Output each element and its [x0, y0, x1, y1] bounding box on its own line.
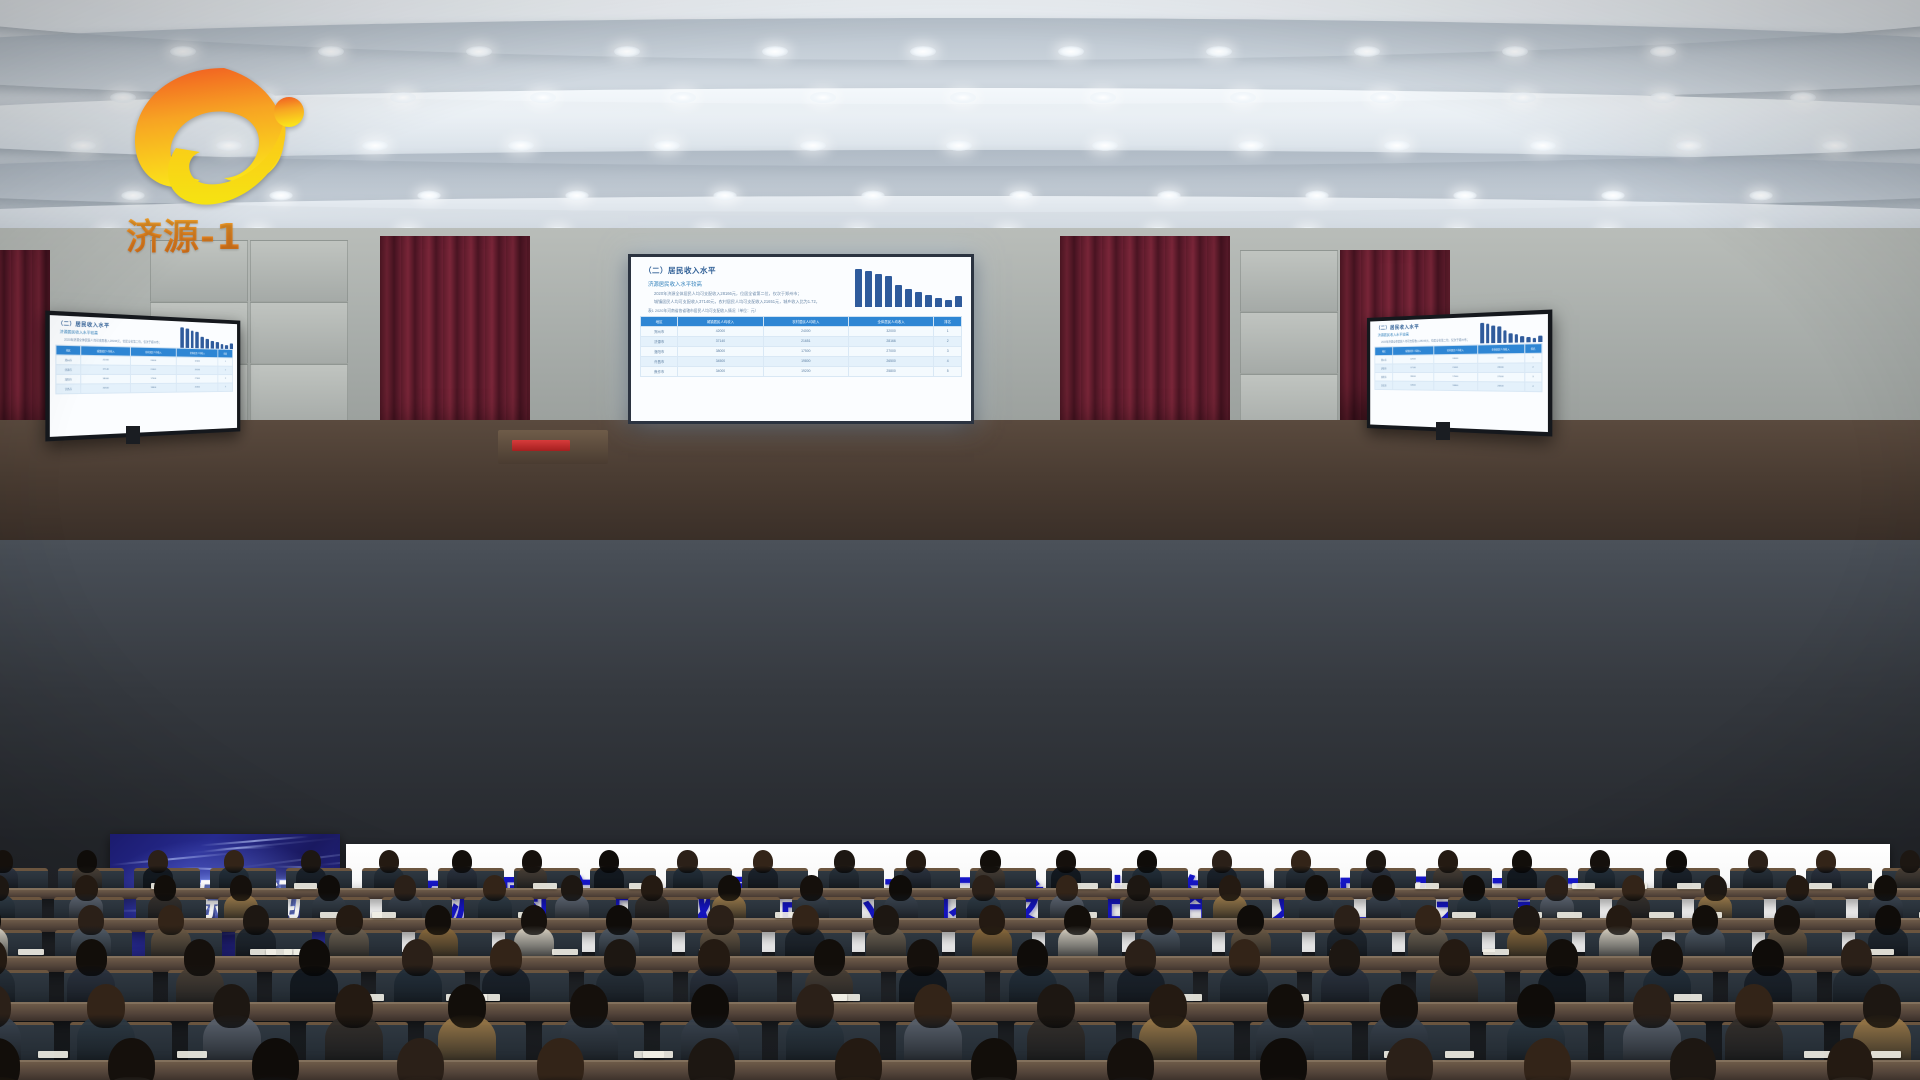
chart-bar	[865, 271, 872, 307]
audience-member-head	[1875, 905, 1901, 935]
downlight	[1384, 140, 1410, 151]
downlight	[1305, 191, 1328, 201]
monitor-data-table-right: 地区城镇居民人均收入农村居民人均收入全体居民人均收入排名郑州市420002400…	[1374, 343, 1542, 392]
audience-member-head	[0, 850, 13, 873]
chart-bar	[211, 341, 214, 349]
audience-member-head	[570, 984, 608, 1028]
downlight	[1092, 140, 1118, 151]
audience-member-head	[1237, 905, 1263, 935]
table-row: 洛阳市3800017500270003	[641, 346, 962, 356]
table-cell: 19800	[1434, 382, 1478, 391]
audience-member-head	[691, 984, 729, 1028]
table-header-cell: 排名	[1524, 344, 1542, 354]
document-paper	[1677, 883, 1701, 889]
table-cell: 4	[1524, 382, 1542, 392]
chart-bar	[1527, 337, 1531, 342]
downlight	[417, 191, 440, 201]
table-cell: 28166	[176, 366, 218, 375]
table-cell: 19200	[763, 366, 848, 376]
audience-member-head	[599, 850, 619, 873]
table-cell: 洛阳市	[56, 375, 81, 385]
table-cell: 21651	[763, 336, 848, 346]
stage-curtain-right	[1060, 236, 1230, 446]
chart-bar	[230, 343, 233, 349]
table-cell: 4	[934, 356, 962, 366]
table-header-cell: 全体居民人均收入	[848, 316, 933, 326]
downlight	[670, 92, 696, 103]
chart-bar	[220, 344, 223, 349]
audience-member-head	[1874, 875, 1897, 901]
document-paper	[266, 949, 292, 955]
downlight	[1058, 46, 1084, 57]
audience-member-head	[1366, 850, 1386, 873]
document-paper	[533, 883, 557, 889]
audience-member-head	[1545, 875, 1568, 901]
table-cell: 3	[218, 375, 232, 383]
chart-bar	[895, 285, 902, 307]
chart-bar	[191, 330, 194, 348]
table-cell: 1	[934, 326, 962, 336]
table-row: 许昌市3450019800265004	[1375, 381, 1542, 392]
table-cell: 42000	[1393, 355, 1434, 364]
table-cell: 19800	[763, 356, 848, 366]
table-cell: 42000	[678, 326, 763, 336]
audience-member-head	[230, 875, 253, 901]
chart-bar	[1533, 338, 1537, 342]
downlight	[508, 140, 534, 151]
audience-member-head	[213, 984, 251, 1028]
audience-member-head	[1415, 905, 1441, 935]
projection-screen: （二）居民收入水平 济源居民收入水平较高 2020年济源全体居民人均可支配收入2…	[628, 254, 974, 424]
stage-curtain-left	[380, 236, 530, 446]
audience-member-head	[604, 939, 636, 975]
channel-name-label: 济源-1	[126, 208, 326, 260]
downlight	[1370, 92, 1396, 103]
downlight	[1009, 191, 1032, 201]
downlight	[910, 46, 936, 57]
table-cell: 许昌市	[1375, 381, 1393, 390]
table-header-row: 地区城镇居民人均收入农村居民人均收入全体居民人均收入排名	[641, 316, 962, 326]
audience-member-head	[1735, 984, 1773, 1028]
downlight	[1822, 140, 1848, 151]
table-cell: 2	[218, 366, 232, 374]
audience-member-head	[718, 875, 741, 901]
document-paper	[552, 949, 578, 955]
audience-member-head	[1774, 905, 1800, 935]
slide-paragraph: 城镇居民人均可支配收入37140元，农村居民人均可支配收入21651元，城乡收入…	[654, 299, 854, 305]
downlight	[530, 92, 556, 103]
presentation-slide: （二）居民收入水平 济源居民收入水平较高 2020年济源全体居民人均可支配收入2…	[631, 257, 971, 421]
document-paper	[18, 949, 44, 955]
chart-bar	[925, 295, 932, 307]
audience-member-head	[834, 850, 854, 873]
audience-member-head	[1463, 875, 1486, 901]
downlight	[800, 140, 826, 151]
audience-member-head	[483, 875, 506, 901]
document-paper	[1809, 883, 1833, 889]
table-header-cell: 农村居民人均收入	[763, 316, 848, 326]
downlight	[466, 46, 492, 57]
document-paper	[1674, 994, 1702, 1001]
table-cell: 许昌市	[641, 356, 678, 366]
document-paper	[1452, 912, 1477, 918]
audience-member-head	[1064, 905, 1090, 935]
document-paper	[1415, 883, 1439, 889]
downlight	[654, 140, 680, 151]
table-cell: 28166	[1478, 363, 1525, 373]
table-cell: 许昌市	[56, 384, 81, 394]
downlight	[1206, 46, 1232, 57]
audience-member-head	[1212, 850, 1232, 873]
table-row: 济源市3714021651281662	[641, 336, 962, 346]
table-row: 郑州市4200024000320001	[641, 326, 962, 336]
table-cell: 26500	[1478, 382, 1525, 392]
stage-curtain-far-left	[0, 250, 50, 440]
audience-member-head	[796, 984, 834, 1028]
audience-member-head	[1666, 850, 1686, 873]
audience-member-head	[77, 850, 97, 873]
table-cell: 5	[934, 366, 962, 376]
table-cell: 济源市	[641, 336, 678, 346]
audience-member-head	[1816, 850, 1836, 873]
audience-member-head	[1692, 905, 1718, 935]
audience-member-head	[707, 905, 733, 935]
document-paper	[177, 1051, 207, 1058]
downlight	[861, 191, 884, 201]
audience-member-head	[972, 875, 995, 901]
table-cell: 21651	[130, 366, 176, 375]
audience-member-head	[1900, 850, 1920, 873]
audience-member-head	[402, 939, 434, 975]
table-cell: 17500	[1434, 373, 1478, 382]
audience-member-head	[889, 875, 912, 901]
wall-panel	[250, 364, 348, 426]
chart-bar	[915, 292, 922, 307]
monitor-bar-chart-left	[180, 326, 233, 349]
chart-bar	[206, 339, 209, 349]
downlight	[1530, 140, 1556, 151]
audience-member-head	[425, 905, 451, 935]
audience-member-head	[1524, 1038, 1571, 1080]
wall-panel	[1240, 312, 1338, 374]
audience-member-head	[1147, 905, 1173, 935]
table-header-cell: 城镇居民人均收入	[678, 316, 763, 326]
slide-paragraph: 2020年济源全体居民人均可支配收入28166元，位居全省第二位，仅次于郑州市；	[654, 291, 854, 297]
audience-member-head	[677, 850, 697, 873]
document-paper	[1572, 883, 1596, 889]
table-cell: 38000	[81, 375, 131, 385]
audience-member-head	[397, 1038, 444, 1080]
slide-data-table: 地区城镇居民人均收入农村居民人均收入全体居民人均收入排名郑州市420002400…	[640, 316, 962, 377]
downlight	[946, 140, 972, 151]
audience-member-head	[814, 939, 846, 975]
table-cell: 32000	[848, 326, 933, 336]
audience-member-head	[336, 905, 362, 935]
table-cell: 38000	[678, 346, 763, 356]
audience-member-head	[1670, 1038, 1717, 1080]
table-cell: 34500	[678, 356, 763, 366]
table-cell: 32000	[1478, 354, 1525, 364]
audience-member-head	[75, 875, 98, 901]
table-cell: 34000	[678, 366, 763, 376]
audience-member-head	[148, 850, 168, 873]
audience-member-head	[971, 1038, 1018, 1080]
monitor-bar-chart-right	[1480, 320, 1542, 344]
audience-member-head	[1517, 984, 1555, 1028]
audience-member-head	[448, 984, 486, 1028]
light-streak	[111, 852, 236, 866]
audience-member-head	[1380, 984, 1418, 1028]
audience-member-head	[154, 875, 177, 901]
audience-member-head	[1229, 939, 1261, 975]
document-paper	[1557, 912, 1582, 918]
monitor-slide-right: （二）居民收入水平 济源居民收入水平较高 2020年济源全体居民人均可支配收入2…	[1370, 314, 1548, 432]
chart-bar	[1515, 334, 1519, 342]
audience-member-head	[1329, 939, 1361, 975]
chart-bar	[1509, 333, 1513, 343]
table-cell: 郑州市	[1375, 356, 1393, 365]
audience-member-head	[641, 875, 664, 901]
table-cell: 25800	[848, 366, 933, 376]
chart-bar	[1491, 325, 1495, 343]
audience-member-head	[753, 850, 773, 873]
table-row: 济源市3714021651281662	[1375, 363, 1542, 373]
audience-member-head	[394, 875, 417, 901]
wall-panel	[1240, 250, 1338, 312]
audience-member-head	[698, 939, 730, 975]
audience-member-head	[301, 850, 321, 873]
audience-member-head	[1622, 875, 1645, 901]
table-cell: 17500	[763, 346, 848, 356]
downlight	[1510, 92, 1536, 103]
audience-member-head	[1841, 939, 1873, 975]
table-cell: 1	[1524, 353, 1542, 363]
chart-bar	[955, 296, 962, 307]
audience-member-head	[1752, 939, 1784, 975]
table-cell: 24000	[1434, 354, 1478, 363]
table-cell: 32000	[176, 357, 218, 366]
downlight	[1230, 92, 1256, 103]
audience-member-head	[1512, 850, 1532, 873]
table-row: 焦作市3400019200258005	[641, 366, 962, 376]
table-cell: 24000	[763, 326, 848, 336]
table-cell: 38000	[1393, 373, 1434, 382]
slide-bar-chart	[855, 267, 963, 307]
audience-member-head	[1291, 850, 1311, 873]
audience-member-head	[1149, 984, 1187, 1028]
audience-member-head	[606, 905, 632, 935]
chart-bar	[905, 289, 912, 307]
chart-bar	[885, 276, 892, 307]
table-cell: 37140	[1393, 364, 1434, 373]
audience-member-head	[1633, 984, 1671, 1028]
downlight	[1676, 140, 1702, 151]
chart-bar	[1480, 323, 1484, 344]
downlight	[1354, 46, 1380, 57]
audience-member-head	[800, 875, 823, 901]
audience-member-head	[835, 1038, 882, 1080]
audience-member-head	[1651, 939, 1683, 975]
audience-member-head	[537, 1038, 584, 1080]
document-paper	[1483, 949, 1509, 955]
chart-bar	[180, 327, 183, 348]
audience-member-head	[1137, 850, 1157, 873]
downlight	[1650, 92, 1676, 103]
chart-bar	[935, 298, 942, 307]
audience-member-head	[299, 939, 331, 975]
channel-bug: 济源-1	[104, 56, 334, 256]
table-row: 许昌市3450019800265004	[56, 383, 233, 394]
table-header-cell: 排名	[934, 316, 962, 326]
document-paper	[1649, 912, 1674, 918]
audience-member-head	[1439, 939, 1471, 975]
audience-member-head	[1786, 875, 1809, 901]
table-row: 济源市3714021651281662	[56, 365, 233, 375]
audience-member-head	[252, 1038, 299, 1080]
audience-member-head	[490, 939, 522, 975]
document-paper	[1871, 1051, 1901, 1058]
table-cell: 42000	[81, 356, 131, 366]
table-cell: 焦作市	[641, 366, 678, 376]
audience-member-head	[914, 984, 952, 1028]
chart-bar	[855, 269, 862, 307]
table-cell: 21651	[1434, 364, 1478, 373]
audience-member-head	[1125, 939, 1157, 975]
table-cell: 洛阳市	[641, 346, 678, 356]
slide-table-note: 表1 2020年河南省各省辖市居民人均可支配收入情况（单位：元）	[648, 309, 962, 314]
audience-member-head	[1546, 939, 1578, 975]
audience-member-head	[184, 939, 216, 975]
table-cell: 26500	[848, 356, 933, 366]
downlight	[1650, 46, 1676, 57]
audience-member-head	[1267, 984, 1305, 1028]
chart-bar	[875, 274, 882, 307]
broadcast-frame: （二）居民收入水平 济源居民收入水平较高 2020年济源全体居民人均可支配收入2…	[0, 0, 1920, 1080]
chart-bar	[185, 329, 188, 348]
audience-member-head	[522, 850, 542, 873]
downlight	[1090, 92, 1116, 103]
audience-member-head	[1863, 984, 1901, 1028]
audience-member-head	[1372, 875, 1395, 901]
audience-member-head	[1127, 875, 1150, 901]
audience-member-head	[224, 850, 244, 873]
table-cell: 济源市	[56, 365, 81, 375]
table-cell: 3	[934, 346, 962, 356]
table-cell: 19800	[130, 384, 176, 393]
audience-member-head	[1056, 850, 1076, 873]
document-paper	[38, 1051, 68, 1058]
document-paper	[643, 1051, 673, 1058]
audience-member-head	[1606, 905, 1632, 935]
downlight	[810, 92, 836, 103]
table-cell: 郑州市	[641, 326, 678, 336]
audience-member-head	[521, 905, 547, 935]
audience-member-head	[906, 850, 926, 873]
downlight	[1238, 140, 1264, 151]
downlight	[1453, 191, 1476, 201]
table-cell: 26500	[176, 383, 218, 392]
table-cell: 37140	[678, 336, 763, 346]
chart-bar	[1521, 336, 1525, 343]
downlight	[1790, 92, 1816, 103]
table-cell: 34500	[1393, 381, 1434, 390]
table-cell: 3	[1524, 373, 1542, 383]
table-cell: 1	[218, 358, 232, 367]
chart-bar	[945, 300, 952, 307]
table-cell: 济源市	[1375, 364, 1393, 373]
audience-member-head	[980, 850, 1000, 873]
audience-member-head	[87, 984, 125, 1028]
downlight	[565, 191, 588, 201]
chart-bar	[1539, 336, 1543, 342]
table-header-cell: 排名	[218, 349, 232, 358]
table-cell: 2	[1524, 363, 1542, 373]
monitor-data-table-left: 地区城镇居民人均收入农村居民人均收入全体居民人均收入排名郑州市420002400…	[55, 345, 233, 395]
audience-member-head	[1219, 875, 1242, 901]
audience-member-head	[979, 905, 1005, 935]
audience-member-head	[76, 939, 108, 975]
table-cell: 27000	[1478, 373, 1525, 382]
audience-member-head	[1704, 875, 1727, 901]
audience-member-head	[158, 905, 184, 935]
table-cell: 37140	[81, 365, 131, 375]
table-cell: 郑州市	[56, 355, 81, 365]
document-paper	[294, 883, 318, 889]
table-cell: 4	[218, 383, 232, 392]
audience-member-head	[1513, 905, 1539, 935]
audience-member-head	[1438, 850, 1458, 873]
document-paper	[372, 912, 397, 918]
table-cell: 34500	[81, 384, 131, 394]
table-cell: 2	[934, 336, 962, 346]
table-cell: 28166	[848, 336, 933, 346]
downlight	[390, 92, 416, 103]
downlight	[1601, 191, 1624, 201]
table-cell: 洛阳市	[1375, 373, 1393, 382]
audience-member-head	[335, 984, 373, 1028]
audience-member-head	[78, 905, 104, 935]
table-header-cell: 地区	[641, 316, 678, 326]
table-cell: 17500	[130, 375, 176, 384]
downlight	[950, 92, 976, 103]
document-paper	[1075, 883, 1099, 889]
audience-member-head	[1305, 875, 1328, 901]
downlight	[762, 46, 788, 57]
table-header-cell: 地区	[1375, 347, 1393, 356]
audience-member-head	[1056, 875, 1079, 901]
chart-bar	[196, 332, 199, 349]
downlight	[1502, 46, 1528, 57]
chart-bar	[1497, 326, 1501, 343]
chart-bar	[215, 342, 218, 348]
table-row: 许昌市3450019800265004	[641, 356, 962, 366]
table-cell: 27000	[848, 346, 933, 356]
table-cell: 27000	[176, 375, 218, 384]
audience-member-head	[1037, 984, 1075, 1028]
audience-member-head	[792, 905, 818, 935]
jiyuan-swirl-logo-icon	[104, 56, 334, 216]
audience-member-head	[452, 850, 472, 873]
audience-member-head	[1590, 850, 1610, 873]
audience-member-head	[379, 850, 399, 873]
chart-bar	[1486, 324, 1490, 344]
chart-bar	[1503, 331, 1507, 343]
downlight	[1157, 191, 1180, 201]
document-paper	[1445, 1051, 1475, 1058]
audience-member-head	[873, 905, 899, 935]
audience-member-head	[1334, 905, 1360, 935]
chart-bar	[225, 345, 228, 349]
